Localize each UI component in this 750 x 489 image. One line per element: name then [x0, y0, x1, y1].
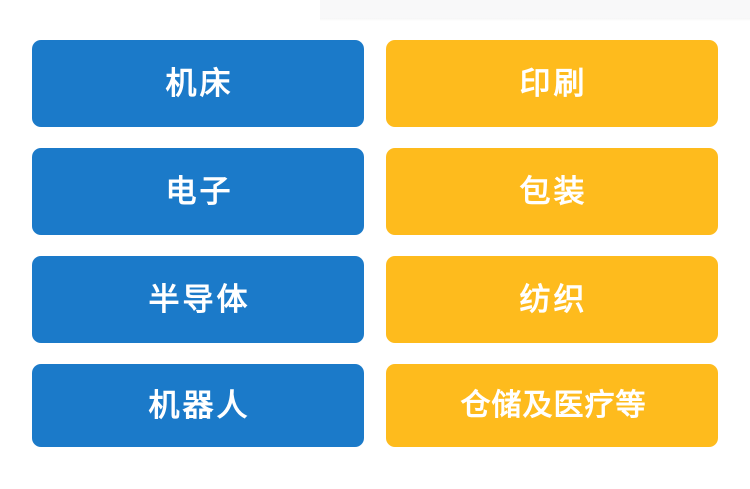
category-button-printing[interactable]: 印刷: [386, 40, 718, 127]
category-button-semiconductor[interactable]: 半导体: [32, 256, 364, 343]
top-decorative-band: [320, 0, 750, 20]
category-button-label: 电子: [163, 176, 234, 207]
category-button-label: 机器人: [146, 390, 251, 421]
category-button-label: 印刷: [517, 68, 588, 99]
category-button-label: 包装: [517, 176, 588, 207]
category-button-textile[interactable]: 纺织: [386, 256, 718, 343]
top-decorative-band-edge: [320, 18, 750, 21]
category-button-label: 半导体: [146, 284, 251, 315]
category-button-warehousing-medical[interactable]: 仓储及医疗等: [386, 364, 718, 447]
category-button-packaging[interactable]: 包装: [386, 148, 718, 235]
category-button-label: 纺织: [517, 284, 588, 315]
category-button-robot[interactable]: 机器人: [32, 364, 364, 447]
category-button-electronics[interactable]: 电子: [32, 148, 364, 235]
category-button-label: 仓储及医疗等: [458, 391, 647, 421]
industry-category-grid: 机床 印刷 电子 包装 半导体 纺织 机器人 仓储及医疗等: [32, 40, 718, 441]
page-root: 机床 印刷 电子 包装 半导体 纺织 机器人 仓储及医疗等: [0, 0, 750, 489]
category-button-label: 机床: [163, 68, 234, 99]
category-button-machine-tool[interactable]: 机床: [32, 40, 364, 127]
